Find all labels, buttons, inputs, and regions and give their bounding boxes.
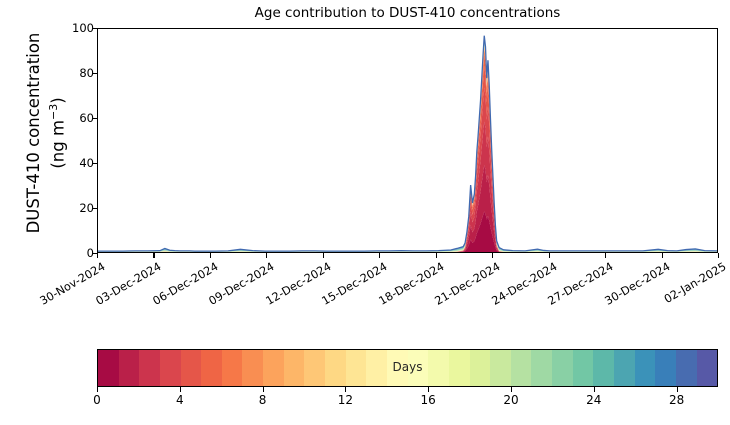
age-bin-area (98, 46, 717, 252)
colorbar-swatch (160, 350, 181, 386)
colorbar-tick-label: 0 (93, 393, 101, 407)
colorbar-tick-label: 28 (669, 393, 684, 407)
colorbar-tick-mark (511, 387, 512, 392)
age-bin-area (98, 43, 717, 252)
colorbar-swatch (676, 350, 697, 386)
colorbar-swatch (242, 350, 263, 386)
colorbar-swatch (449, 350, 470, 386)
figure-canvas: Age contribution to DUST-410 concentrati… (0, 0, 730, 425)
colorbar-tick-mark (263, 387, 264, 392)
x-tick-mark (153, 253, 154, 258)
colorbar-tick-label: 24 (586, 393, 601, 407)
colorbar-tick-mark (180, 387, 181, 392)
age-bin-areas (98, 36, 717, 252)
colorbar-swatch (531, 350, 552, 386)
colorbar-tick-mark (345, 387, 346, 392)
age-bin-area (98, 54, 717, 252)
x-tick-mark (266, 253, 267, 258)
age-bin-area (98, 36, 717, 251)
y-tick-label: 100 (34, 21, 94, 35)
colorbar-swatch (552, 350, 573, 386)
colorbar-swatch (119, 350, 140, 386)
colorbar[interactable] (97, 349, 718, 387)
age-bin-area (98, 49, 717, 252)
x-tick-mark (662, 253, 663, 258)
x-tick-mark (323, 253, 324, 258)
y-axis-label-line2: (ng m−3) (44, 0, 69, 273)
x-tick-label: 30-Nov-2024 (14, 260, 107, 321)
colorbar-swatch (470, 350, 491, 386)
age-bin-area (98, 47, 717, 252)
colorbar-swatch (655, 350, 676, 386)
colorbar-swatch (222, 350, 243, 386)
age-bin-area (98, 45, 717, 252)
colorbar-tick-mark (594, 387, 595, 392)
age-bin-area (98, 41, 717, 252)
colorbar-swatch (181, 350, 202, 386)
colorbar-tick-label: 4 (176, 393, 184, 407)
colorbar-swatch (325, 350, 346, 386)
colorbar-swatch (428, 350, 449, 386)
y-tick-label: 20 (34, 201, 94, 215)
colorbar-swatch (490, 350, 511, 386)
x-tick-mark (549, 253, 550, 258)
age-bin-area (98, 37, 717, 251)
age-bin-area (98, 39, 717, 251)
colorbar-swatch (98, 350, 119, 386)
colorbar-tick-label: 16 (421, 393, 436, 407)
colorbar-swatch (284, 350, 305, 386)
colorbar-tick-label: 12 (338, 393, 353, 407)
colorbar-swatch (593, 350, 614, 386)
age-bin-area (98, 45, 717, 252)
age-bin-area (98, 122, 717, 252)
y-tick-label: 80 (34, 66, 94, 80)
plot-axes (97, 28, 718, 253)
y-tick-label: 40 (34, 156, 94, 170)
x-tick-mark (718, 253, 719, 258)
y-axis-label: DUST-410 concentration (ng m−3) (24, 0, 64, 273)
y-axis-label-line1: DUST-410 concentration (24, 0, 44, 273)
age-bin-area (98, 46, 717, 252)
age-bin-area (98, 212, 717, 252)
colorbar-swatch (635, 350, 656, 386)
total-concentration-line (98, 36, 717, 251)
colorbar-swatch (139, 350, 160, 386)
colorbar-swatch (573, 350, 594, 386)
y-tick-label: 60 (34, 111, 94, 125)
age-bin-area (98, 46, 717, 252)
colorbar-tick-label: 20 (503, 393, 518, 407)
age-bin-area (98, 41, 717, 251)
colorbar-swatch (304, 350, 325, 386)
age-bin-area (98, 43, 717, 251)
age-bin-area (98, 36, 717, 251)
colorbar-swatch (387, 350, 408, 386)
colorbar-swatch (366, 350, 387, 386)
y-tick-label: 0 (34, 246, 94, 260)
age-bin-area (98, 47, 717, 252)
x-tick-mark (492, 253, 493, 258)
x-tick-mark (210, 253, 211, 258)
colorbar-swatch (408, 350, 429, 386)
age-bin-area (98, 165, 717, 252)
colorbar-tick-mark (428, 387, 429, 392)
colorbar-tick-mark (97, 387, 98, 392)
age-bin-area (98, 46, 717, 252)
colorbar-swatch (511, 350, 532, 386)
age-bin-area (98, 44, 717, 251)
x-tick-mark (379, 253, 380, 258)
age-bin-area (98, 38, 717, 251)
colorbar-swatch (201, 350, 222, 386)
colorbar-swatch (614, 350, 635, 386)
colorbar-swatch (263, 350, 284, 386)
age-bin-area (98, 44, 717, 252)
colorbar-swatch (346, 350, 367, 386)
age-bin-area (98, 45, 717, 252)
age-bin-area (98, 88, 717, 252)
colorbar-tick-label: 8 (259, 393, 267, 407)
x-tick-mark (97, 253, 98, 258)
age-bin-area (98, 38, 717, 252)
x-tick-mark (605, 253, 606, 258)
stacked-area-plot (98, 29, 717, 252)
age-bin-area (98, 66, 717, 252)
chart-title: Age contribution to DUST-410 concentrati… (97, 5, 718, 21)
x-tick-mark (436, 253, 437, 258)
colorbar-tick-mark (677, 387, 678, 392)
age-bin-area (98, 42, 717, 252)
y-axis-unit-suffix: ) (49, 97, 68, 103)
colorbar-swatch (697, 350, 718, 386)
age-bin-area (98, 40, 717, 252)
